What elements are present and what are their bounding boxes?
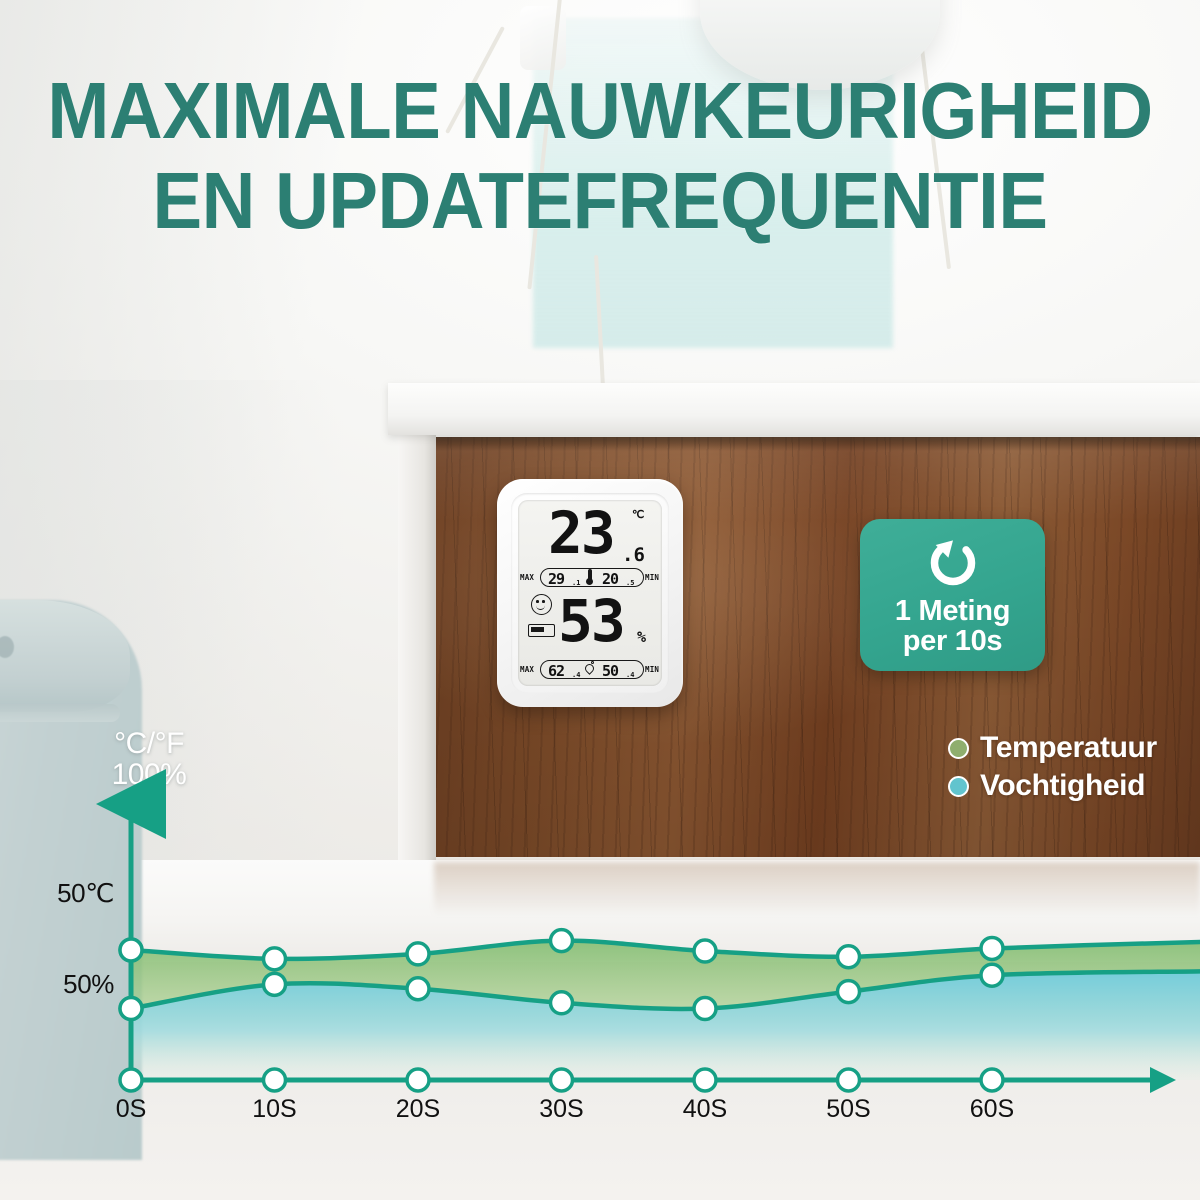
x-tick-marker-20S[interactable] bbox=[407, 1069, 429, 1091]
smiley-icon bbox=[531, 594, 552, 615]
battery-icon bbox=[528, 624, 555, 637]
y-tick-label-50c: 50℃ bbox=[0, 878, 114, 909]
humidity-max-value: 62 bbox=[548, 662, 564, 680]
data-point-vochtigheid-20S[interactable] bbox=[407, 978, 429, 1000]
temp-max-value: 29 bbox=[548, 570, 564, 588]
refresh-icon bbox=[925, 535, 981, 596]
data-point-vochtigheid-10S[interactable] bbox=[264, 973, 286, 995]
x-tick-label-30S: 30S bbox=[517, 1095, 607, 1124]
data-point-vochtigheid-60S[interactable] bbox=[981, 964, 1003, 986]
cabinet-top-surface bbox=[388, 383, 1200, 435]
temperature-reading: 23 bbox=[548, 504, 614, 562]
badge-text: 1 Meting per 10s bbox=[860, 597, 1045, 656]
data-point-vochtigheid-40S[interactable] bbox=[694, 998, 716, 1020]
x-tick-marker-60S[interactable] bbox=[981, 1069, 1003, 1091]
x-tick-marker-50S[interactable] bbox=[838, 1069, 860, 1091]
humidity-max-label: MAX bbox=[520, 665, 534, 674]
y-tick-marker-50p[interactable] bbox=[120, 998, 142, 1020]
badge-line-2: per 10s bbox=[860, 627, 1045, 657]
temp-min-decimal: .5 bbox=[626, 579, 634, 587]
thermometer-icon bbox=[586, 569, 593, 586]
x-tick-marker-0S[interactable] bbox=[120, 1069, 142, 1091]
x-tick-marker-10S[interactable] bbox=[264, 1069, 286, 1091]
chart-plot-area bbox=[0, 720, 1200, 1200]
page-title: MAXIMALE NAUWKEURIGHEID EN UPDATEFREQUEN… bbox=[42, 72, 1158, 241]
device-bezel: 23 ℃ .6 MAX 29 .1 20 .5 MIN 53 % MAX 62 … bbox=[511, 493, 669, 693]
data-point-vochtigheid-50S[interactable] bbox=[838, 981, 860, 1003]
temperature-decimal: .6 bbox=[622, 544, 645, 566]
humidity-min-decimal: .4 bbox=[626, 671, 634, 679]
measurement-rate-badge: 1 Meting per 10s bbox=[860, 519, 1045, 671]
y-tick-marker-50c[interactable] bbox=[120, 939, 142, 961]
badge-line-1: 1 Meting bbox=[860, 597, 1045, 627]
humidity-reading: 53 bbox=[558, 592, 624, 650]
humidity-drop-icon bbox=[585, 661, 595, 676]
temp-max-decimal: .1 bbox=[572, 579, 580, 587]
x-tick-label-0S: 0S bbox=[86, 1095, 176, 1124]
humidity-max-decimal: .4 bbox=[572, 671, 580, 679]
x-tick-marker-40S[interactable] bbox=[694, 1069, 716, 1091]
data-point-temperatuur-10S[interactable] bbox=[264, 948, 286, 970]
cabinet-top-shadow bbox=[434, 437, 1200, 451]
temp-min-value: 20 bbox=[602, 570, 618, 588]
x-tick-marker-30S[interactable] bbox=[551, 1069, 573, 1091]
product-infographic: MAXIMALE NAUWKEURIGHEID EN UPDATEFREQUEN… bbox=[0, 0, 1200, 1200]
temp-max-label: MAX bbox=[520, 573, 534, 582]
x-tick-label-40S: 40S bbox=[660, 1095, 750, 1124]
data-point-vochtigheid-30S[interactable] bbox=[551, 992, 573, 1014]
thermometer-device: 23 ℃ .6 MAX 29 .1 20 .5 MIN 53 % MAX 62 … bbox=[497, 479, 683, 707]
celsius-unit: ℃ bbox=[632, 508, 644, 521]
headline-line-2: EN UPDATEFREQUENTIE bbox=[42, 162, 1158, 240]
x-tick-label-60S: 60S bbox=[947, 1095, 1037, 1124]
headline-line-1: MAXIMALE NAUWKEURIGHEID bbox=[47, 66, 1152, 155]
temp-min-label: MIN bbox=[645, 573, 659, 582]
lcd-screen: 23 ℃ .6 MAX 29 .1 20 .5 MIN 53 % MAX 62 … bbox=[518, 500, 662, 686]
data-point-temperatuur-50S[interactable] bbox=[838, 946, 860, 968]
data-point-temperatuur-20S[interactable] bbox=[407, 943, 429, 965]
humidity-min-label: MIN bbox=[645, 665, 659, 674]
x-tick-label-20S: 20S bbox=[373, 1095, 463, 1124]
data-point-temperatuur-60S[interactable] bbox=[981, 937, 1003, 959]
y-tick-label-50p: 50% bbox=[0, 969, 114, 1000]
x-tick-label-50S: 50S bbox=[804, 1095, 894, 1124]
sensor-chart: °C/°F 100% bbox=[0, 720, 1200, 1200]
x-tick-label-10S: 10S bbox=[230, 1095, 320, 1124]
humidity-min-value: 50 bbox=[602, 662, 618, 680]
data-point-temperatuur-40S[interactable] bbox=[694, 940, 716, 962]
data-point-temperatuur-30S[interactable] bbox=[551, 930, 573, 952]
percent-unit: % bbox=[637, 628, 646, 646]
